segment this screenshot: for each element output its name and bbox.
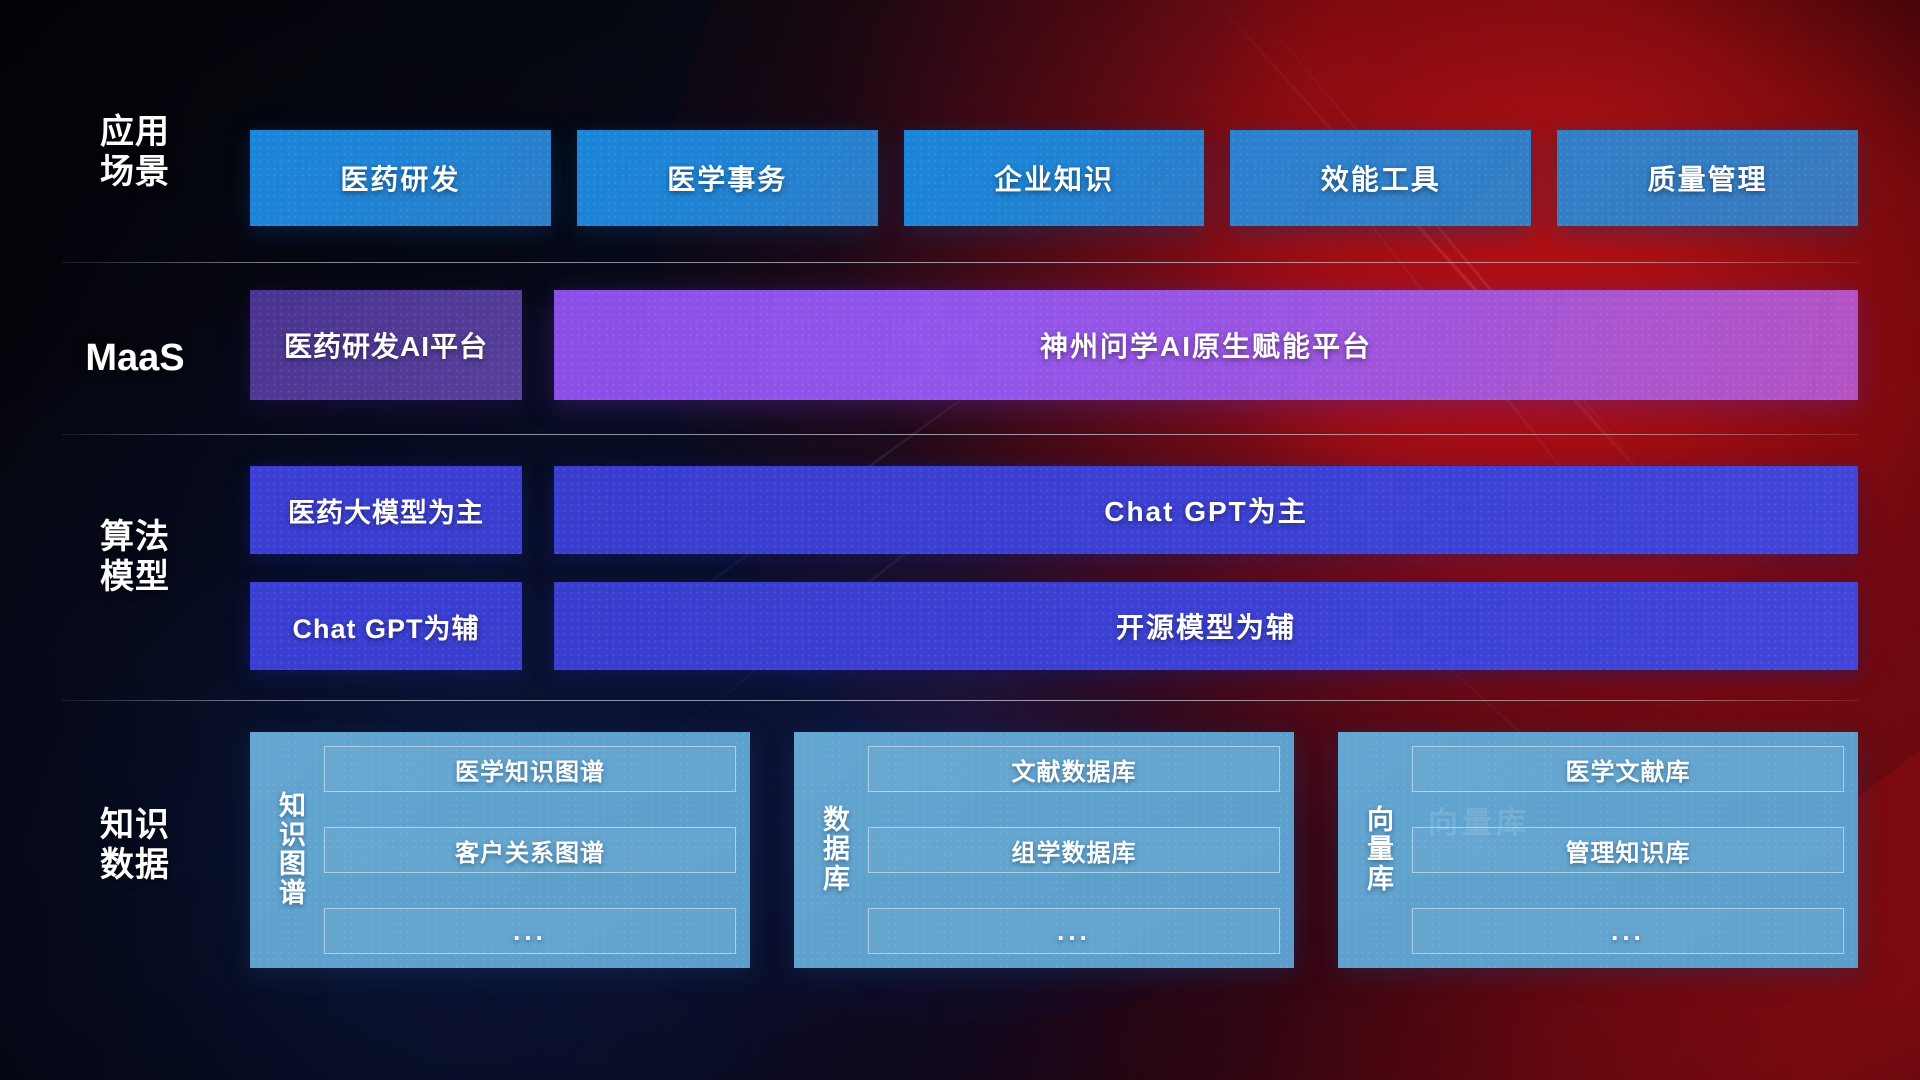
app-box-quality-management[interactable]: 质量管理 [1557,130,1858,226]
vertical-label-char: 库 [823,865,851,894]
knowledge-item[interactable]: 客户关系图谱 [324,827,736,873]
vertical-label-char: 识 [279,821,307,850]
divider-1 [62,262,1858,263]
vertical-label-char: 库 [1367,865,1395,894]
divider-3 [62,700,1858,701]
app-box-label: 企业知识 [994,158,1114,198]
knowledge-group-database[interactable]: 数 据 库 文献数据库 组学数据库 ... [794,732,1294,968]
algorithm-subrow-secondary: Chat GPT为辅 开源模型为辅 [250,582,1858,670]
knowledge-item[interactable]: 医学文献库 [1412,746,1844,792]
knowledge-item-more[interactable]: ... [324,908,736,954]
knowledge-group-label-knowledge-graph: 知 识 图 谱 [262,746,324,954]
vertical-label-char: 谱 [279,879,307,908]
row-label-line1: 算法 [70,517,200,557]
knowledge-item-more[interactable]: ... [868,908,1280,954]
vertical-label-char: 知 [279,792,307,821]
vertical-label-char: 图 [279,850,307,879]
algorithm-subrow-primary: 医药大模型为主 Chat GPT为主 [250,466,1858,554]
app-box-medical-affairs[interactable]: 医学事务 [577,130,878,226]
maas-boxes: 医药研发AI平台 神州问学AI原生赋能平台 [250,290,1858,400]
app-box-label: 医学事务 [667,158,787,198]
maas-box-label: 神州问学AI原生赋能平台 [1040,325,1372,365]
knowledge-item-list: 医学文献库 管理知识库 ... [1412,746,1844,954]
algo-box-label: 开源模型为辅 [1116,606,1296,646]
row-label-maas: MaaS [70,336,200,381]
knowledge-item-list: 文献数据库 组学数据库 ... [868,746,1280,954]
row-label-line2: 数据 [70,845,200,885]
algo-box-label: 医药大模型为主 [288,491,484,530]
application-scenario-boxes: 医药研发 医学事务 企业知识 效能工具 质量管理 [250,130,1858,226]
algo-box-label: Chat GPT为主 [1104,490,1308,530]
algo-box-label: Chat GPT为辅 [292,607,479,646]
architecture-diagram: 应用 场景 医药研发 医学事务 企业知识 效能工具 质量管理 [0,0,1920,1080]
app-box-drug-rnd[interactable]: 医药研发 [250,130,551,226]
knowledge-item[interactable]: 文献数据库 [868,746,1280,792]
knowledge-item[interactable]: 管理知识库 [1412,827,1844,873]
app-box-label: 质量管理 [1648,158,1768,198]
row-label-text: MaaS [70,336,200,381]
app-box-label: 效能工具 [1321,158,1441,198]
vertical-label-char: 量 [1367,835,1395,864]
row-label-algorithm-models: 算法 模型 [70,517,200,597]
knowledge-group-vector-store[interactable]: 向 量 库 医学文献库 管理知识库 ... [1338,732,1858,968]
knowledge-item[interactable]: 组学数据库 [868,827,1280,873]
app-box-enterprise-knowledge[interactable]: 企业知识 [904,130,1205,226]
app-box-efficiency-tools[interactable]: 效能工具 [1230,130,1531,226]
row-label-application-scenarios: 应用 场景 [70,112,200,192]
knowledge-group-knowledge-graph[interactable]: 知 识 图 谱 医学知识图谱 客户关系图谱 ... [250,732,750,968]
algo-box-chatgpt-primary[interactable]: Chat GPT为主 [554,466,1858,554]
knowledge-group-label-vector-store: 向 量 库 [1350,746,1412,954]
app-box-label: 医药研发 [340,158,460,198]
maas-box-drug-rnd-ai-platform[interactable]: 医药研发AI平台 [250,290,522,400]
maas-box-label: 医药研发AI平台 [284,325,488,365]
row-label-line2: 场景 [70,152,200,192]
row-label-line1: 知识 [70,805,200,845]
maas-box-shenzhou-wenxue-platform[interactable]: 神州问学AI原生赋能平台 [554,290,1858,400]
algo-box-chatgpt-secondary[interactable]: Chat GPT为辅 [250,582,522,670]
knowledge-item[interactable]: 医学知识图谱 [324,746,736,792]
knowledge-group-label-database: 数 据 库 [806,746,868,954]
knowledge-item-more[interactable]: ... [1412,908,1844,954]
vertical-label-char: 数 [823,806,851,835]
row-label-line2: 模型 [70,557,200,597]
algo-box-pharma-llm-primary[interactable]: 医药大模型为主 [250,466,522,554]
row-label-knowledge-data: 知识 数据 [70,805,200,885]
row-label-line1: 应用 [70,112,200,152]
vertical-label-char: 据 [823,835,851,864]
vertical-label-char: 向 [1367,806,1395,835]
algo-box-opensource-secondary[interactable]: 开源模型为辅 [554,582,1858,670]
knowledge-groups: 知 识 图 谱 医学知识图谱 客户关系图谱 ... 数 据 库 [250,732,1858,968]
divider-2 [62,434,1858,435]
knowledge-item-list: 医学知识图谱 客户关系图谱 ... [324,746,736,954]
